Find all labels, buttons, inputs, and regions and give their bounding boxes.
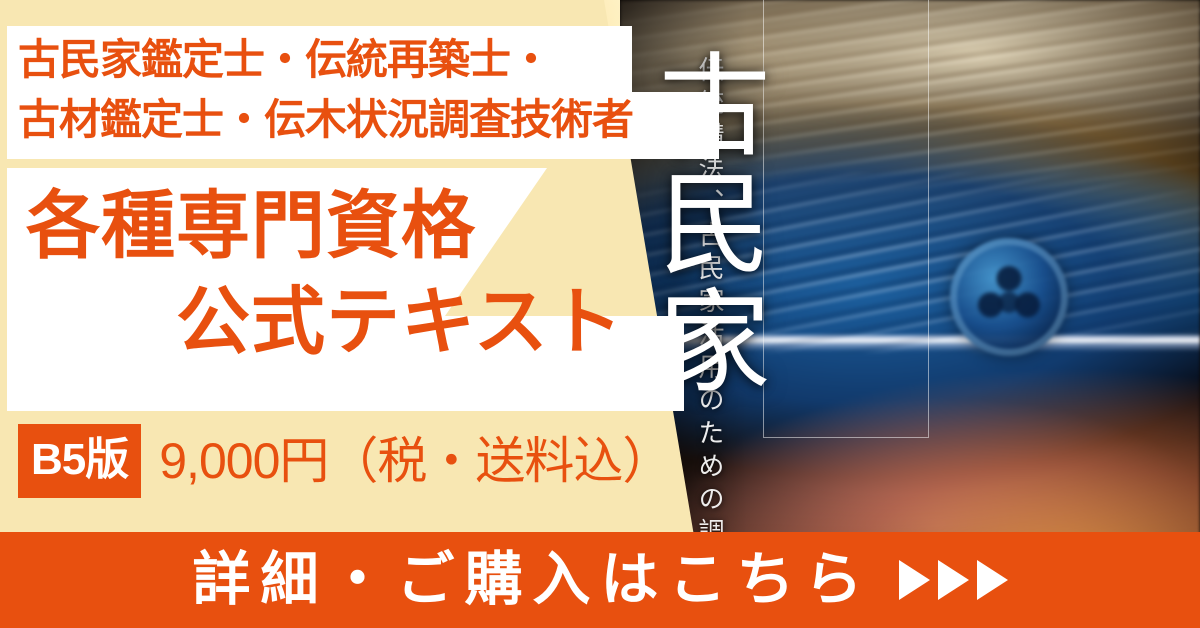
format-badge: B5版 [18, 424, 141, 498]
main-title-line-1: 各種専門資格 [0, 178, 690, 274]
play-arrow-icon [977, 560, 1008, 600]
qualification-headline: 古民家鑑定士・伝統再築士・ 古材鑑定士・伝木状況調査技術者 [18, 30, 718, 149]
cta-arrows [899, 560, 1008, 600]
cta-bar[interactable]: 詳細・ご購入はこちら [0, 532, 1200, 628]
headline-line-1: 古民家鑑定士・伝統再築士・ [18, 30, 718, 90]
price-row: B5版 9,000円（税・送料込） [18, 425, 671, 497]
price-amount: 9,000円（税・送料込） [159, 436, 671, 486]
cta-label[interactable]: 詳細・ご購入はこちら [192, 551, 872, 609]
book-cover-title-frame [763, 0, 929, 438]
main-title: 各種専門資格 公式テキスト [0, 178, 690, 370]
play-arrow-icon [899, 560, 930, 600]
headline-line-2: 古材鑑定士・伝木状況調査技術者 [18, 90, 718, 150]
play-arrow-icon [938, 560, 969, 600]
main-title-line-2: 公式テキスト [0, 274, 690, 370]
promo-banner: 伝統構法、古民家活用のための調査と再生の 古民家 古民家鑑定士・伝統再築士・ 古… [0, 0, 1200, 628]
